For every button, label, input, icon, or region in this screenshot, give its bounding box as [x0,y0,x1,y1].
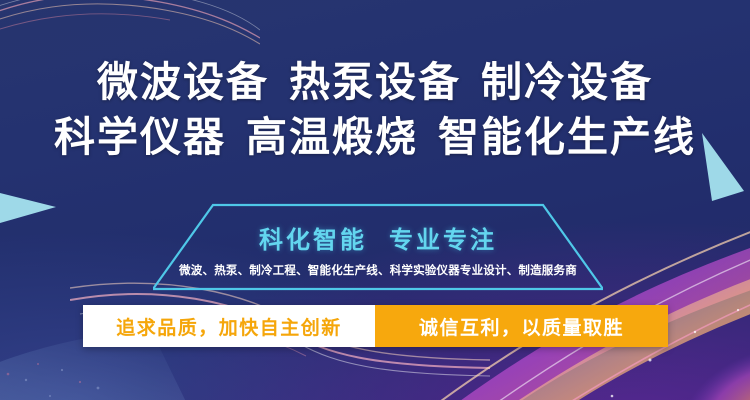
slogan-trapezoid: 科化智能专业专注 微波、热泵、制冷工程、智能化生产线、科学实验仪器专业设计、制造… [153,203,603,291]
headline-part-2: 热泵设备 [289,58,461,106]
slogan-bar-left[interactable]: 追求品质，加快自主创新 [83,305,375,347]
headline-part-4: 科学仪器 [54,113,226,161]
triangle-right-icon-left [0,193,56,223]
headline-part-1: 微波设备 [97,58,269,106]
headline-part-3: 制冷设备 [481,58,653,106]
slogan-right: 专业专注 [389,226,497,254]
slogan-bars: 追求品质，加快自主创新 诚信互利，以质量取胜 [83,305,668,347]
headline-part-5: 高温煅烧 [246,113,418,161]
promo-banner: 微波设备热泵设备制冷设备 科学仪器高温煅烧智能化生产线 科化智能专业专注 微波、… [0,0,750,400]
slogan-left: 科化智能 [259,226,367,254]
slogan-bar-right[interactable]: 诚信互利，以质量取胜 [375,305,668,347]
subline-text: 微波、热泵、制冷工程、智能化生产线、科学实验仪器专业设计、制造服务商 [153,262,603,278]
headline-part-6: 智能化生产线 [438,113,696,161]
slogan-text: 科化智能专业专注 [153,220,603,255]
page-title: 微波设备热泵设备制冷设备 科学仪器高温煅烧智能化生产线 [0,62,750,158]
